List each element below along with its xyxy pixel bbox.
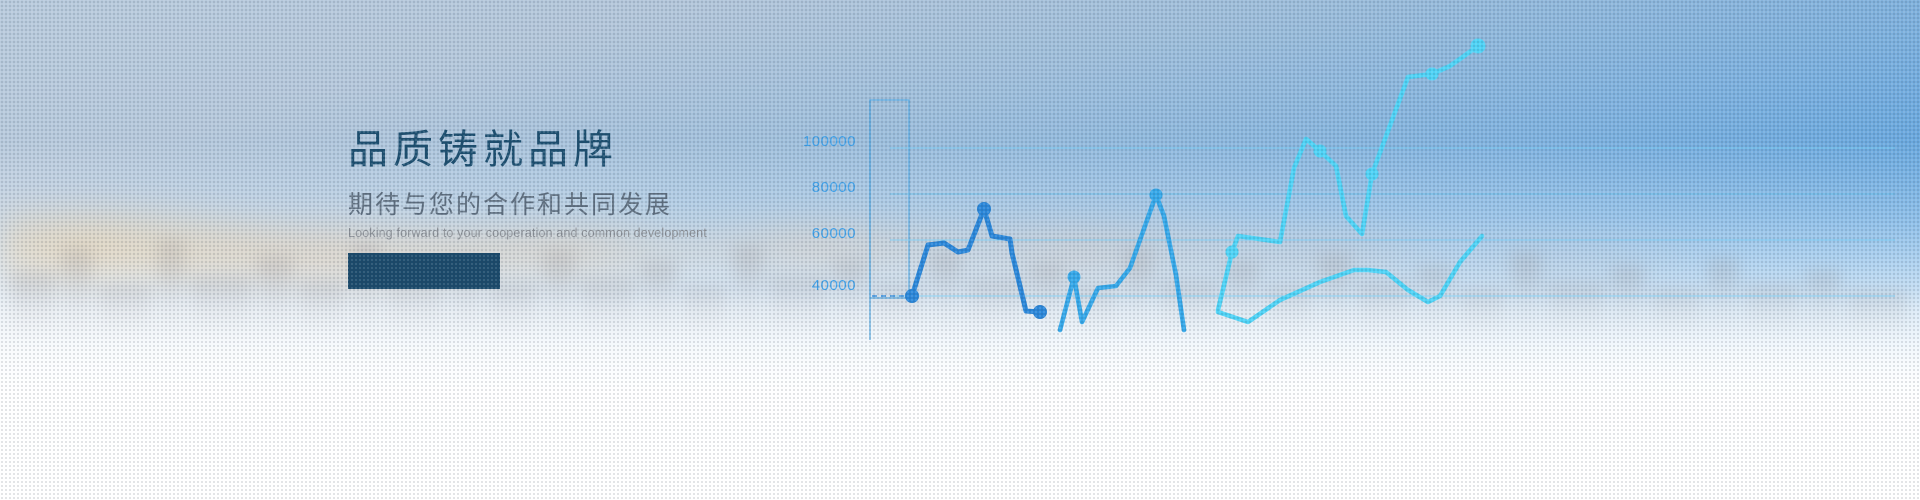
y-tick-40000: 40000: [812, 277, 856, 294]
chart-gridlines: [890, 148, 1895, 296]
page-title: 品质铸就品牌: [348, 128, 768, 172]
series-3-marker-c: [1366, 168, 1379, 181]
series-3-marker-d: [1426, 68, 1439, 81]
series-3-marker-a: [1226, 246, 1239, 259]
chart-axis: [870, 100, 909, 340]
hero-banner: 100000 80000 60000 40000: [0, 0, 1920, 500]
page-subtitle: 期待与您的合作和共同发展: [348, 191, 768, 220]
series-1-marker-end: [1033, 305, 1047, 319]
cta-button[interactable]: [348, 253, 500, 289]
series-2-line: [1060, 189, 1184, 331]
axis-origin-rect: [870, 100, 909, 298]
series-4-line: [1218, 236, 1482, 322]
series-3-marker-b: [1314, 145, 1327, 158]
page-subtitle-english: Looking forward to your cooperation and …: [348, 226, 768, 240]
line-chart: 100000 80000 60000 40000: [760, 0, 1920, 500]
y-tick-80000: 80000: [812, 179, 856, 196]
y-tick-60000: 60000: [812, 225, 856, 242]
y-axis-tick-labels: 100000 80000 60000 40000: [803, 133, 856, 294]
series-2-marker-peak: [1150, 189, 1163, 202]
y-tick-100000: 100000: [803, 133, 856, 150]
hero-copy: 品质铸就品牌 期待与您的合作和共同发展 Looking forward to y…: [348, 128, 768, 240]
series-1-line: [905, 202, 1047, 319]
series-2-marker-low: [1068, 271, 1081, 284]
series-1-marker-start: [905, 289, 919, 303]
series-3-marker-end: [1471, 39, 1486, 54]
series-1-marker-peak: [977, 202, 991, 216]
